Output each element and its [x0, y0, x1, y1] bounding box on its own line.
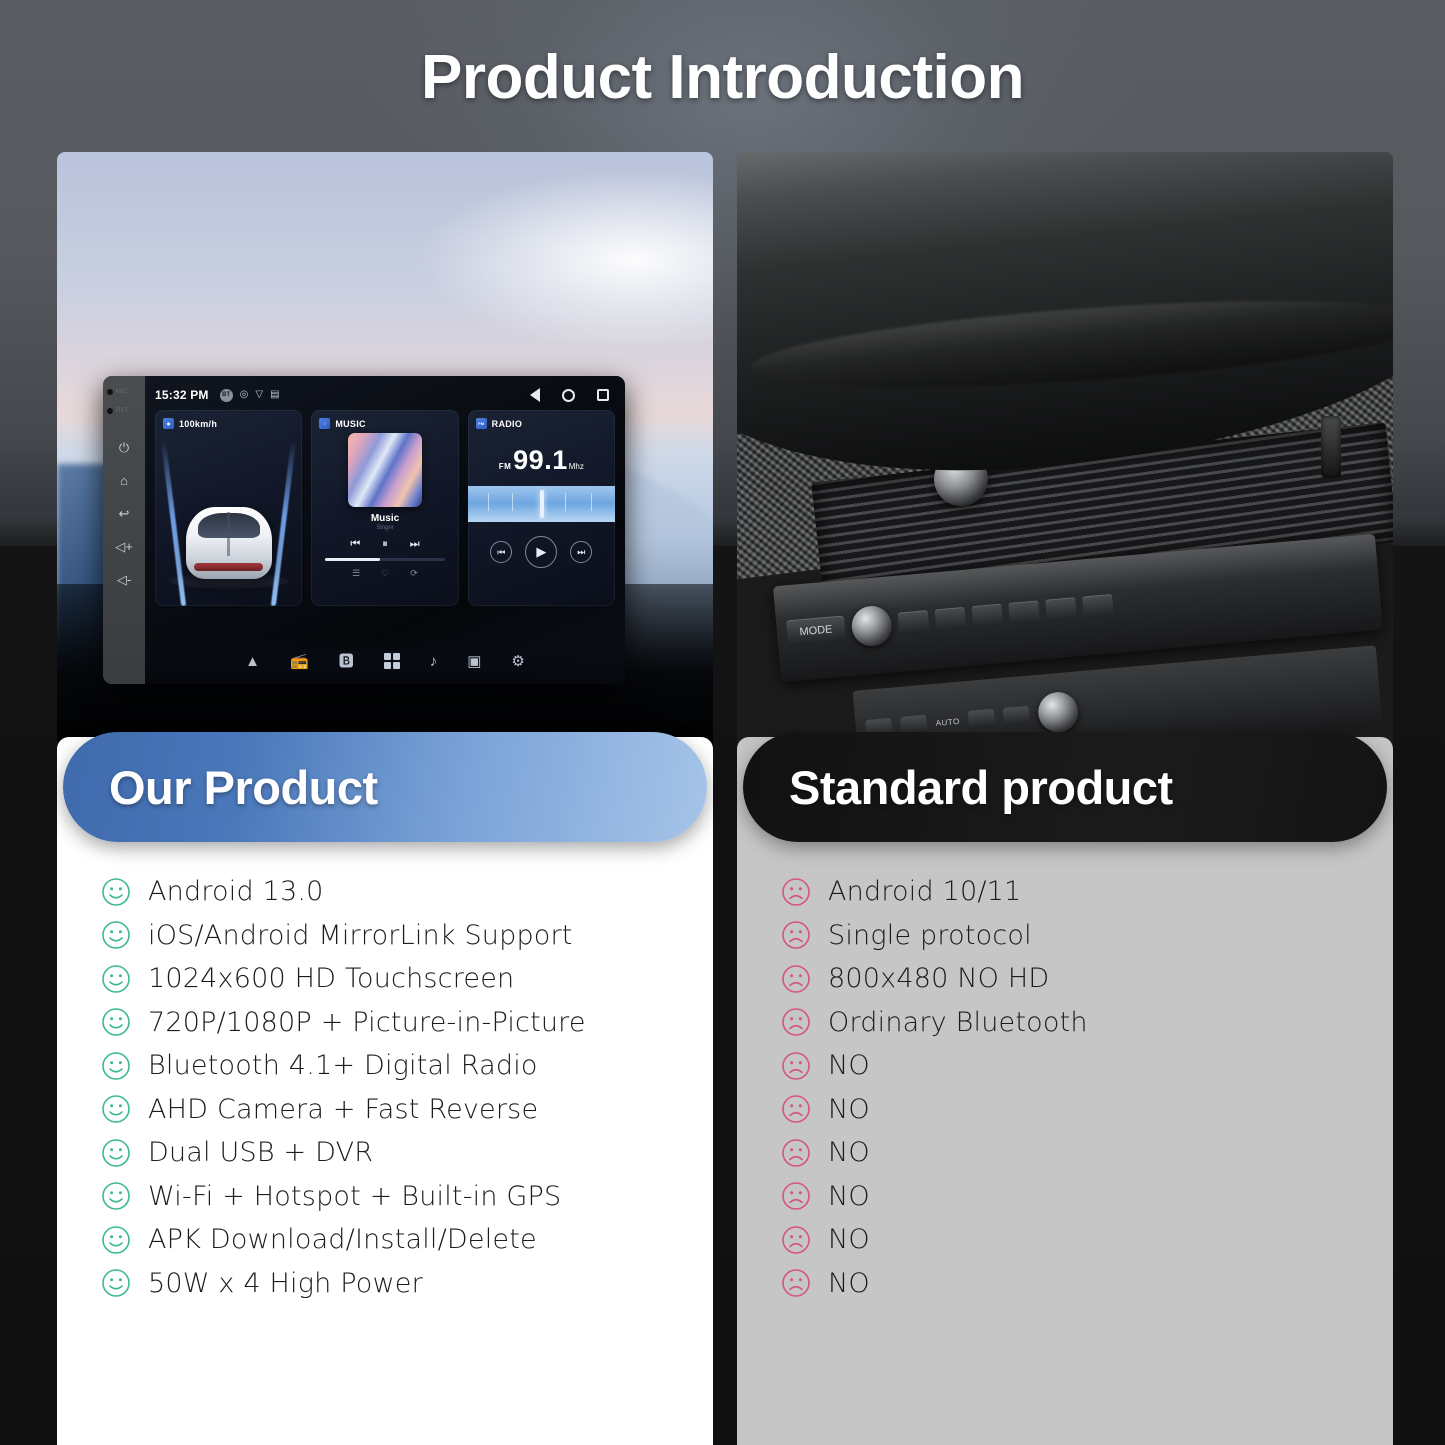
- back-icon[interactable]: ↩: [119, 507, 130, 520]
- standard-product-feature-item: 800x480 NO HD: [781, 957, 1349, 1001]
- our-product-photo: MIC RST ⏻ ⌂ ↩ ◁+ ◁- 15:32 PM BT: [57, 152, 713, 752]
- our-product-feature-item: Bluetooth 4.1+ Digital Radio: [101, 1044, 669, 1088]
- preset-button-4[interactable]: [1009, 600, 1041, 625]
- our-product-feature-item: Android 13.0: [101, 870, 669, 914]
- sad-face-icon: [781, 877, 811, 907]
- next-icon[interactable]: ⏭: [570, 541, 592, 563]
- driving-view: [155, 436, 302, 606]
- smiley-face-icon: [101, 1268, 131, 1298]
- sad-face-icon: [781, 1225, 811, 1255]
- page-title: Product Introduction: [0, 42, 1445, 113]
- our-product-feature-label: Wi-Fi + Hotspot + Built-in GPS: [148, 1181, 561, 1212]
- our-product-feature-item: AHD Camera + Fast Reverse: [101, 1088, 669, 1132]
- sad-face-icon: [781, 1094, 811, 1124]
- our-product-feature-list: Android 13.0iOS/Android MirrorLink Suppo…: [57, 870, 713, 1305]
- radio-icon[interactable]: 📻: [290, 654, 309, 669]
- radio-widget-title: RADIO: [492, 419, 523, 429]
- music-note-icon[interactable]: ♪: [430, 654, 438, 669]
- car-graphic: [186, 507, 272, 579]
- tuner-needle[interactable]: [540, 490, 544, 518]
- standard-product-feature-label: 800x480 NO HD: [828, 963, 1049, 994]
- our-product-feature-label: 50W x 4 High Power: [148, 1268, 423, 1299]
- playlist-icon[interactable]: ☰: [352, 568, 360, 579]
- car-stripe: [227, 512, 230, 557]
- smiley-face-icon: [101, 1225, 131, 1255]
- standard-product-feature-label: NO: [828, 1268, 870, 1299]
- standard-product-feature-item: NO: [781, 1218, 1349, 1262]
- auto-label: AUTO: [935, 716, 960, 727]
- our-product-feature-label: 720P/1080P + Picture-in-Picture: [148, 1007, 586, 1038]
- standard-product-feature-item: Single protocol: [781, 914, 1349, 958]
- back-triangle-icon[interactable]: [530, 388, 540, 402]
- bluetooth-icon[interactable]: 🅱: [339, 654, 354, 669]
- bluetooth-icon: BT: [220, 389, 233, 402]
- smiley-face-icon: [101, 1051, 131, 1081]
- home-widgets: ◉ 100km/h: [155, 410, 615, 606]
- track-artist: Singer: [319, 525, 450, 531]
- our-product-banner: Our Product: [63, 732, 707, 842]
- smiley-face-icon: [101, 1094, 131, 1124]
- standard-product-feature-item: NO: [781, 1088, 1349, 1132]
- our-product-feature-item: 50W x 4 High Power: [101, 1262, 669, 1306]
- sad-face-icon: [781, 1138, 811, 1168]
- radio-frequency-display: FM 99.1 Mhz: [476, 445, 607, 476]
- radio-tuner-band[interactable]: [468, 486, 615, 522]
- standard-product-feature-label: NO: [828, 1181, 870, 1212]
- sad-face-icon: [781, 1181, 811, 1211]
- reset-label: RST: [116, 408, 129, 414]
- climate-button-3[interactable]: [968, 709, 995, 729]
- sad-face-icon: [781, 1051, 811, 1081]
- mic-indicator: MIC: [107, 389, 141, 395]
- preset-button-3[interactable]: [972, 604, 1004, 629]
- head-unit-device: MIC RST ⏻ ⌂ ↩ ◁+ ◁- 15:32 PM BT: [103, 376, 625, 684]
- smiley-face-icon: [101, 877, 131, 907]
- sad-face-icon: [781, 920, 811, 950]
- status-time: 15:32 PM: [155, 388, 209, 402]
- standard-product-feature-item: NO: [781, 1131, 1349, 1175]
- volume-down-icon[interactable]: ◁-: [117, 573, 131, 586]
- mic-label: MIC: [116, 389, 128, 395]
- home-circle-icon[interactable]: [562, 389, 575, 402]
- our-product-column: MIC RST ⏻ ⌂ ↩ ◁+ ◁- 15:32 PM BT: [57, 152, 713, 752]
- our-product-feature-label: AHD Camera + Fast Reverse: [148, 1094, 538, 1125]
- smiley-face-icon: [101, 964, 131, 994]
- standard-product-feature-label: Single protocol: [828, 920, 1032, 951]
- track-title: Music: [319, 513, 450, 524]
- app-dock[interactable]: ▲ 📻 🅱 ♪ ▣ ⚙: [145, 638, 625, 684]
- radio-icon: ▤: [270, 390, 279, 400]
- smiley-face-icon: [101, 1138, 131, 1168]
- radio-band-label: FM: [499, 462, 511, 471]
- sad-face-icon: [781, 964, 811, 994]
- android-nav-bar[interactable]: [530, 388, 615, 402]
- device-side-bezel: MIC RST ⏻ ⌂ ↩ ◁+ ◁-: [103, 376, 145, 684]
- standard-product-feature-label: NO: [828, 1137, 870, 1168]
- smiley-face-icon: [101, 920, 131, 950]
- mode-button[interactable]: MODE: [786, 615, 846, 646]
- volume-up-icon[interactable]: ◁+: [115, 540, 133, 553]
- our-product-feature-label: Dual USB + DVR: [148, 1137, 373, 1168]
- standard-product-column: MODE AUTO CAR FRAGRAN: [737, 152, 1393, 752]
- standard-product-feature-item: Ordinary Bluetooth: [781, 1001, 1349, 1045]
- car-icon: ◉: [163, 418, 174, 429]
- standard-product-banner-label: Standard product: [789, 760, 1173, 815]
- standard-product-feature-label: NO: [828, 1224, 870, 1255]
- play-icon[interactable]: ▶: [525, 536, 557, 568]
- music-sub-controls[interactable]: ☰ ♡ ⟳: [319, 568, 450, 579]
- standard-product-feature-label: Ordinary Bluetooth: [828, 1007, 1088, 1038]
- music-widget-title: MUSIC: [335, 419, 366, 429]
- preset-button-6[interactable]: [1082, 594, 1114, 619]
- standard-product-banner: Standard product: [743, 732, 1387, 842]
- standard-product-feature-label: NO: [828, 1050, 870, 1081]
- wifi-icon: ▽: [255, 390, 263, 400]
- preset-button-2[interactable]: [935, 607, 967, 632]
- power-volume-knob[interactable]: [850, 604, 893, 647]
- favorite-icon[interactable]: ♡: [381, 568, 389, 579]
- our-product-feature-label: Bluetooth 4.1+ Digital Radio: [148, 1050, 538, 1081]
- home-icon[interactable]: ⌂: [120, 474, 128, 487]
- car-dashboard-image: MODE AUTO CAR FRAGRAN: [737, 152, 1393, 752]
- product-comparison-poster: Product Introduction MIC RST ⏻ ⌂ ↩: [0, 0, 1445, 1445]
- our-product-feature-label: Android 13.0: [148, 876, 324, 907]
- music-icon: ♪: [319, 418, 330, 429]
- prev-icon[interactable]: ⏮: [350, 538, 360, 551]
- our-product-feature-item: iOS/Android MirrorLink Support: [101, 914, 669, 958]
- driving-widget-title: 100km/h: [179, 419, 217, 429]
- car-taillight: [194, 563, 263, 571]
- radio-controls[interactable]: ⏮ ▶ ⏭: [476, 536, 607, 568]
- our-product-feature-label: 1024x600 HD Touchscreen: [148, 963, 514, 994]
- temperature-knob[interactable]: [1037, 691, 1080, 734]
- standard-product-feature-label: Android 10/11: [828, 876, 1021, 907]
- reset-indicator: RST: [107, 408, 141, 414]
- standard-product-feature-item: NO: [781, 1175, 1349, 1219]
- sad-face-icon: [781, 1007, 811, 1037]
- standard-product-feature-list: Android 10/11Single protocol800x480 NO H…: [737, 870, 1393, 1305]
- radio-frequency-value: 99.1: [513, 445, 568, 476]
- preset-button-1[interactable]: [898, 610, 930, 635]
- our-product-feature-item: 1024x600 HD Touchscreen: [101, 957, 669, 1001]
- smiley-face-icon: [101, 1007, 131, 1037]
- pause-icon[interactable]: ⏸: [382, 538, 388, 551]
- music-widget-header: ♪ MUSIC: [319, 418, 450, 429]
- standard-product-feature-item: Android 10/11: [781, 870, 1349, 914]
- power-icon[interactable]: ⏻: [119, 441, 129, 454]
- our-product-feature-item: Dual USB + DVR: [101, 1131, 669, 1175]
- radio-widget[interactable]: FM RADIO FM 99.1 Mhz: [468, 410, 615, 606]
- next-icon[interactable]: ⏭: [410, 538, 420, 551]
- our-product-feature-item: APK Download/Install/Delete: [101, 1218, 669, 1262]
- music-controls[interactable]: ⏮ ⏸ ⏭: [319, 538, 450, 551]
- our-product-banner-label: Our Product: [109, 760, 378, 815]
- our-product-feature-item: Wi-Fi + Hotspot + Built-in GPS: [101, 1175, 669, 1219]
- climate-button-4[interactable]: [1003, 706, 1030, 726]
- recents-square-icon[interactable]: [597, 389, 609, 401]
- our-product-feature-label: iOS/Android MirrorLink Support: [148, 920, 573, 951]
- apps-grid-icon[interactable]: [384, 653, 400, 669]
- album-art: [348, 433, 422, 507]
- navigation-icon[interactable]: ▲: [245, 654, 260, 669]
- status-icons: BT ◎ ▽ ▤: [220, 389, 280, 402]
- music-widget[interactable]: ♪ MUSIC Music Singer ⏮ ⏸ ⏭: [311, 410, 458, 606]
- preset-button-5[interactable]: [1046, 597, 1078, 622]
- smiley-face-icon: [101, 1181, 131, 1211]
- progress-bar[interactable]: [325, 558, 444, 561]
- settings-gear-icon[interactable]: ⚙: [511, 654, 524, 669]
- radio-frequency-unit: Mhz: [569, 462, 584, 471]
- driving-widget-header: ◉ 100km/h: [163, 418, 294, 429]
- our-product-feature-item: 720P/1080P + Picture-in-Picture: [101, 1001, 669, 1045]
- driving-widget[interactable]: ◉ 100km/h: [155, 410, 302, 606]
- fm-icon: FM: [476, 418, 487, 429]
- prev-icon[interactable]: ⏮: [490, 541, 512, 563]
- repeat-icon[interactable]: ⟳: [410, 568, 418, 579]
- radio-widget-header: FM RADIO: [476, 418, 607, 429]
- standard-product-feature-label: NO: [828, 1094, 870, 1125]
- vent-slider: [1321, 416, 1341, 478]
- standard-product-photo: MODE AUTO CAR FRAGRAN: [737, 152, 1393, 752]
- standard-product-feature-item: NO: [781, 1044, 1349, 1088]
- location-icon: ◎: [240, 390, 249, 400]
- standard-product-feature-item: NO: [781, 1262, 1349, 1306]
- our-product-feature-label: APK Download/Install/Delete: [148, 1224, 537, 1255]
- video-icon[interactable]: ▣: [467, 654, 481, 669]
- device-screen[interactable]: 15:32 PM BT ◎ ▽ ▤: [145, 376, 625, 684]
- sad-face-icon: [781, 1268, 811, 1298]
- status-bar: 15:32 PM BT ◎ ▽ ▤: [155, 385, 615, 405]
